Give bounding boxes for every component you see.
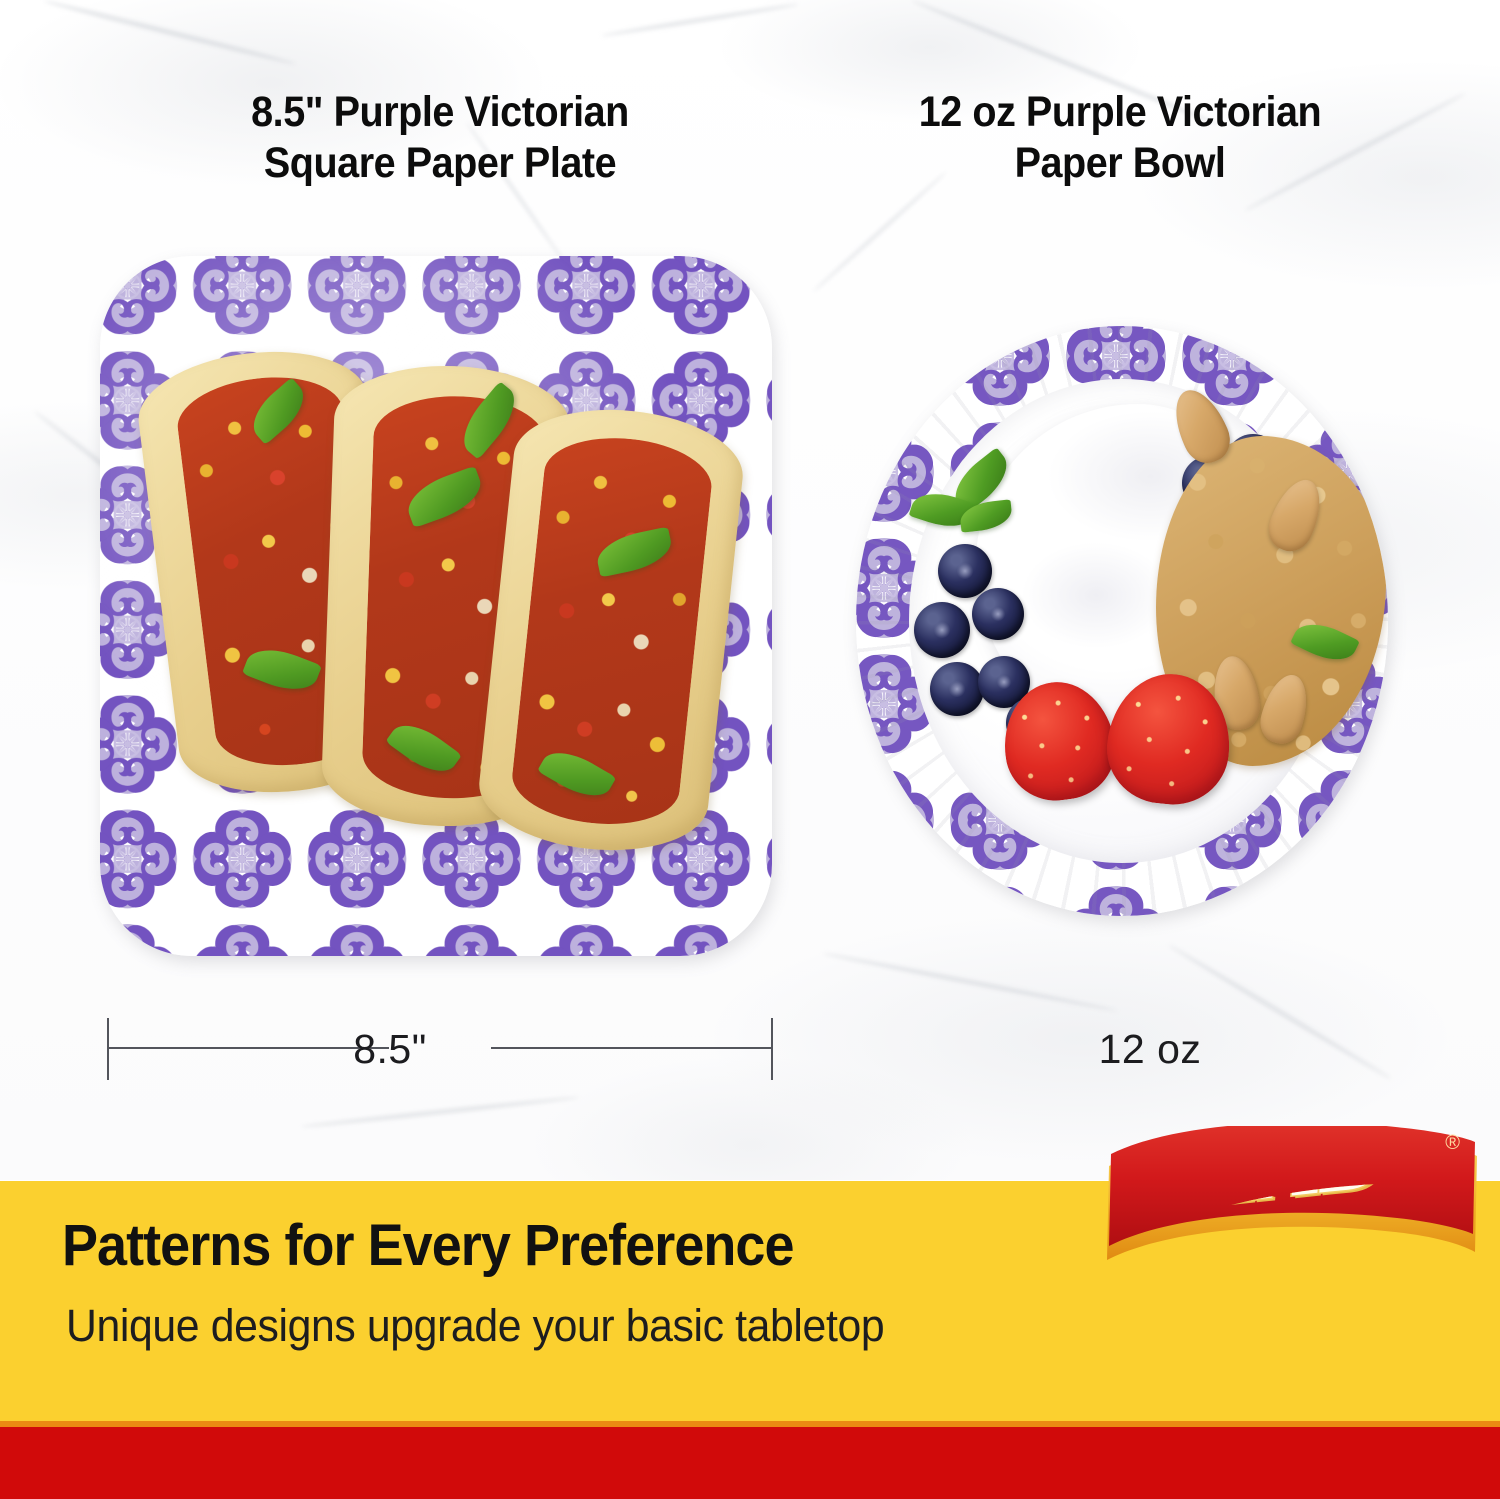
blueberry: [914, 602, 970, 658]
blueberry: [972, 588, 1024, 640]
product-right-heading-line1: 12 oz Purple Victorian: [816, 87, 1423, 138]
blueberry: [930, 662, 984, 716]
glad-logo-icon: GLAD GLAD: [1105, 1126, 1479, 1278]
product-right-heading: 12 oz Purple Victorian Paper Bowl: [816, 87, 1423, 188]
red-footer-bar: [0, 1427, 1500, 1499]
product-right-heading-line2: Paper Bowl: [816, 138, 1423, 189]
paper-bowl-image: [856, 326, 1388, 916]
bowl-capacity-label: 12 oz: [950, 1018, 1350, 1080]
banner-subtitle: Unique designs upgrade your basic tablet…: [66, 1300, 884, 1352]
blueberry: [938, 544, 992, 598]
tacos-food-image: [140, 340, 740, 870]
registered-trademark-icon: ®: [1445, 1132, 1460, 1155]
glad-brand-logo: GLAD GLAD ®: [1105, 1126, 1479, 1278]
banner-title: Patterns for Every Preference: [62, 1212, 794, 1279]
plate-dimension-label: 8.5": [0, 1018, 780, 1080]
product-left-heading-line1: 8.5" Purple Victorian: [146, 87, 735, 138]
product-left-heading-line2: Square Paper Plate: [146, 138, 735, 189]
product-left-heading: 8.5" Purple Victorian Square Paper Plate: [146, 87, 735, 188]
taco-item: [474, 399, 749, 861]
